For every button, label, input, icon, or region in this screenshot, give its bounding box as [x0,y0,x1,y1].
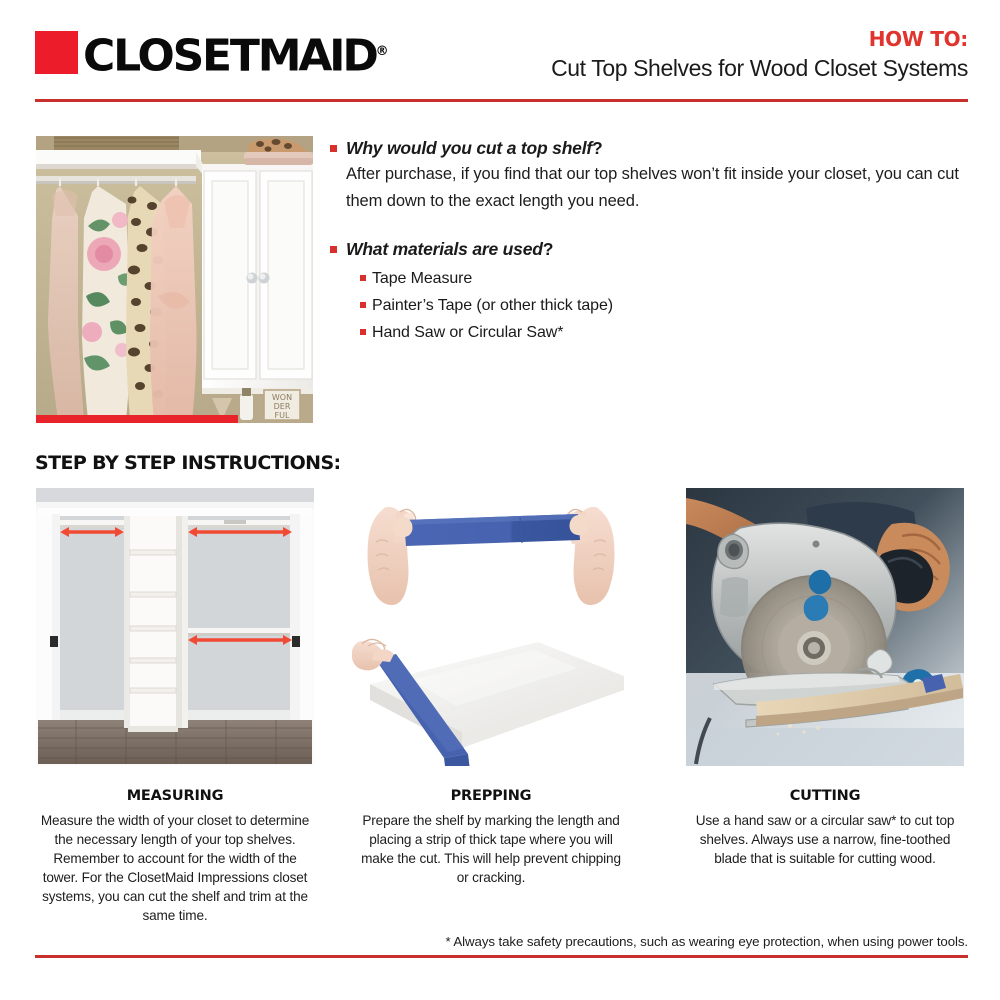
step-title: CUTTING [686,788,964,804]
step-description: Measure the width of your closet to dete… [36,811,314,925]
footer-divider-rule [35,955,968,958]
step-caption-prepping: PREPPING Prepare the shelf by marking th… [352,788,630,887]
question-heading-materials: What materials are used? [330,237,970,262]
step-image-prepping [352,488,630,766]
question-heading-why-mark: ? [592,138,603,158]
step-column-cutting: CUTTING Use a hand saw or a circular saw… [686,488,964,868]
steps-section-title: STEP BY STEP INSTRUCTIONS: [35,452,341,474]
page-title: Cut Top Shelves for Wood Closet Systems [551,53,968,83]
question-answer-why: After purchase, if you find that our top… [330,161,970,215]
step-column-measuring: MEASURING Measure the width of your clos… [36,488,314,925]
header-divider-rule [35,99,968,102]
svg-text:FUL: FUL [275,411,290,420]
svg-text:DER: DER [274,402,291,411]
step-caption-cutting: CUTTING Use a hand saw or a circular saw… [686,788,964,868]
howto-heading-block: HOW TO: Cut Top Shelves for Wood Closet … [551,28,968,83]
logo-text-maid: MAID [258,31,376,82]
list-item: Painter’s Tape (or other thick tape) [360,292,970,319]
question-heading-why-text: Why would you cut a top shelf [346,138,592,158]
step-column-prepping: PREPPING Prepare the shelf by marking th… [352,488,630,887]
square-bullet-icon [360,329,366,335]
question-block-materials: What materials are used? Tape Measure Pa… [330,237,970,346]
logo-text-closet: CLOSET [83,31,258,82]
step-image-cutting [686,488,964,766]
howto-label: HOW TO: [551,28,968,50]
list-item: Hand Saw or Circular Saw* [360,319,970,346]
step-image-measuring [36,488,314,766]
material-label: Tape Measure [372,270,472,287]
list-item: Tape Measure [360,265,970,292]
spacer [330,221,970,237]
intro-closet-photo: WON DER FUL [36,136,313,423]
step-description: Use a hand saw or a circular saw* to cut… [686,811,964,868]
page-header: CLOSETMAID® HOW TO: Cut Top Shelves for … [35,28,968,90]
square-bullet-icon [360,302,366,308]
intro-text-block: Why would you cut a top shelf? After pur… [330,136,970,352]
question-heading-why: Why would you cut a top shelf? [330,136,970,161]
step-title: PREPPING [352,788,630,804]
svg-text:WON: WON [272,393,292,402]
safety-footnote: * Always take safety precautions, such a… [330,934,968,949]
step-title: MEASURING [36,788,314,804]
registered-trademark-icon: ® [376,44,389,59]
step-description: Prepare the shelf by marking the length … [352,811,630,887]
square-bullet-icon [330,246,337,253]
logo-red-square-icon [35,31,78,74]
logo-wordmark: CLOSETMAID® [83,30,389,79]
question-heading-materials-text: What materials are used [346,239,543,259]
closetmaid-logo: CLOSETMAID® [35,30,389,79]
material-label: Hand Saw or Circular Saw* [372,324,563,341]
photo-accent-bar [36,415,238,423]
question-heading-materials-mark: ? [543,239,554,259]
question-block-why: Why would you cut a top shelf? After pur… [330,136,970,215]
materials-list: Tape Measure Painter’s Tape (or other th… [330,265,970,346]
square-bullet-icon [330,145,337,152]
document-page: CLOSETMAID® HOW TO: Cut Top Shelves for … [0,0,1000,1000]
material-label: Painter’s Tape (or other thick tape) [372,297,613,314]
step-caption-measuring: MEASURING Measure the width of your clos… [36,788,314,925]
square-bullet-icon [360,275,366,281]
